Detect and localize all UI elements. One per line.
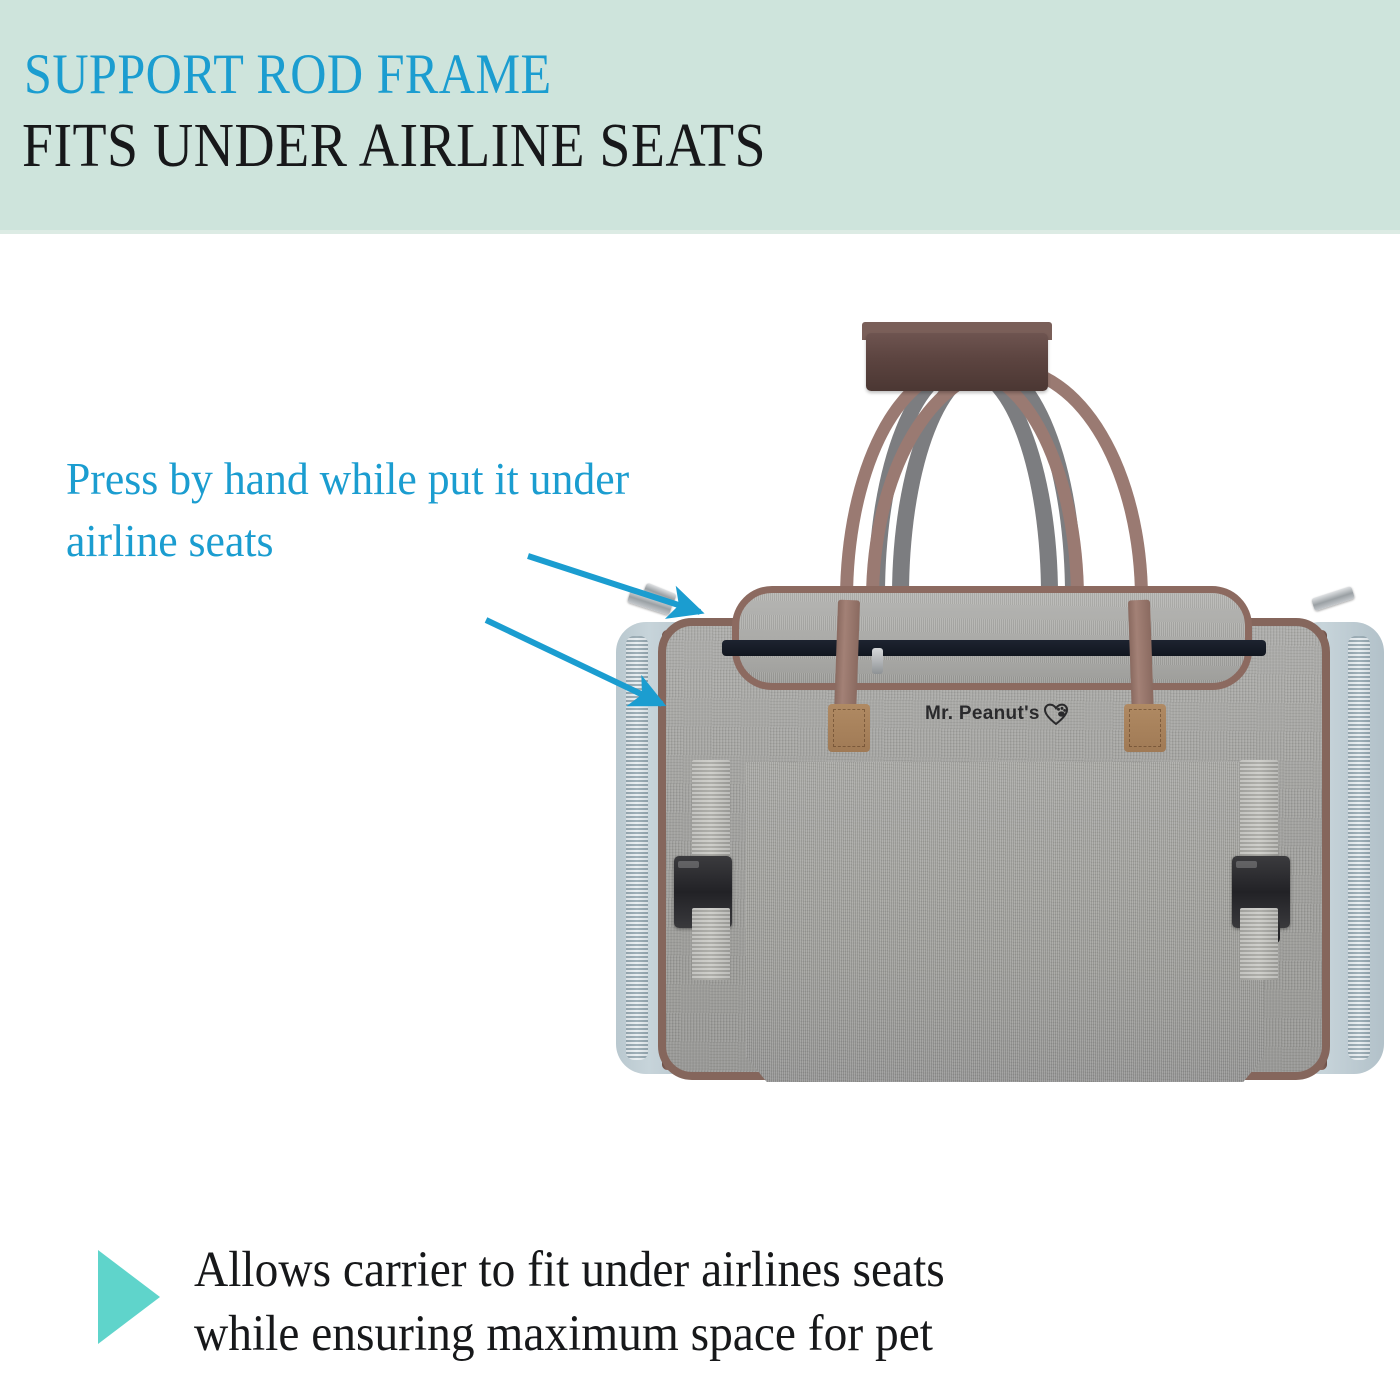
header-band: SUPPORT ROD FRAME FITS UNDER AIRLINE SEA…: [0, 0, 1400, 234]
top-zipper: [722, 640, 1266, 656]
front-flap-panel: [746, 762, 1264, 1082]
heart-paw-icon: [1044, 703, 1068, 725]
bottom-caption: Allows carrier to fit under airlines sea…: [98, 1238, 1278, 1366]
strap-anchor-left: [828, 704, 870, 752]
triangle-bullet-icon: [98, 1250, 160, 1344]
right-expansion-zipper: [1348, 636, 1370, 1060]
brand-logo: Mr. Peanut's: [925, 703, 1068, 725]
handle-strap-right-lower: [1128, 600, 1154, 719]
header-title-primary: SUPPORT ROD FRAME: [24, 44, 552, 106]
handle-strap-left-lower: [834, 600, 860, 719]
webbing-strap-right-lower: [1240, 908, 1278, 980]
strap-anchor-right: [1124, 704, 1166, 752]
left-expansion-zipper: [626, 636, 648, 1060]
infographic-page: SUPPORT ROD FRAME FITS UNDER AIRLINE SEA…: [0, 0, 1400, 1400]
zipper-pull-top-right: [1311, 586, 1355, 611]
top-lid: [732, 586, 1252, 690]
header-title-secondary: FITS UNDER AIRLINE SEATS: [22, 112, 766, 180]
product-image-pet-carrier: Mr. Peanut's: [600, 300, 1400, 1100]
handle-wrap: [866, 333, 1048, 391]
brand-logo-text: Mr. Peanut's: [925, 703, 1040, 725]
webbing-strap-left-lower: [692, 908, 730, 980]
top-zipper-pull: [872, 648, 883, 674]
caption-text: Allows carrier to fit under airlines sea…: [194, 1238, 945, 1366]
